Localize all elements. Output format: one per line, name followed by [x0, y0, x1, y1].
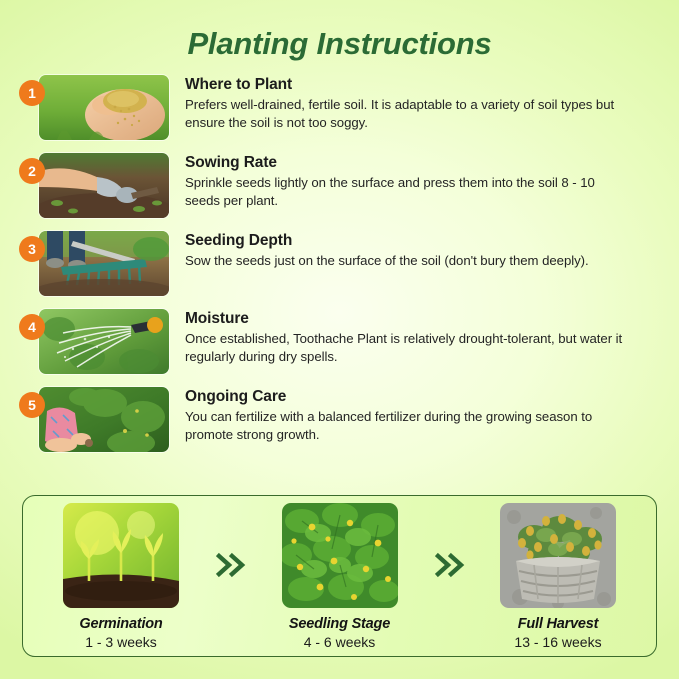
timeline-stage: Full Harvest 13 - 16 weeks [482, 503, 634, 650]
step-heading: Ongoing Care [185, 387, 625, 406]
stage-duration: 4 - 6 weeks [304, 634, 376, 650]
step-heading: Sowing Rate [185, 153, 625, 172]
stage-duration: 13 - 16 weeks [514, 634, 601, 650]
step-number-badge: 3 [19, 236, 45, 262]
hand-holding-seeds-photo [39, 75, 169, 140]
step-text: Moisture Once established, Toothache Pla… [169, 309, 625, 365]
step-body: Once established, Toothache Plant is rel… [185, 330, 625, 365]
step-thumbnail-wrap: 3 [39, 231, 169, 296]
raking-soil-photo [39, 231, 169, 296]
step-heading: Seeding Depth [185, 231, 589, 250]
timeline-stage: Germination 1 - 3 weeks [45, 503, 197, 650]
step-body: You can fertilize with a balanced fertil… [185, 408, 625, 443]
double-chevron-right-icon [207, 548, 253, 582]
step-number-badge: 5 [19, 392, 45, 418]
step-thumbnail-wrap: 4 [39, 309, 169, 374]
step-text: Sowing Rate Sprinkle seeds lightly on th… [169, 153, 625, 209]
step-text: Ongoing Care You can fertilize with a ba… [169, 387, 625, 443]
growth-timeline-panel: Germination 1 - 3 weeks [22, 495, 657, 657]
step-item: 5 [0, 387, 679, 452]
step-item: 3 [0, 231, 679, 296]
harvested-flowers-basket-photo [500, 503, 616, 608]
step-text: Where to Plant Prefers well-drained, fer… [169, 75, 625, 131]
step-heading: Moisture [185, 309, 625, 328]
step-thumbnail-wrap: 5 [39, 387, 169, 452]
step-body: Sprinkle seeds lightly on the surface an… [185, 174, 625, 209]
step-number-badge: 1 [19, 80, 45, 106]
watering-plants-hose-photo [39, 309, 169, 374]
stage-duration: 1 - 3 weeks [85, 634, 157, 650]
step-item: 4 [0, 309, 679, 374]
step-thumbnail-wrap: 2 [39, 153, 169, 218]
gloved-hand-planting-soil-photo [39, 153, 169, 218]
step-body: Sow the seeds just on the surface of the… [185, 252, 589, 269]
step-body: Prefers well-drained, fertile soil. It i… [185, 96, 625, 131]
step-text: Seeding Depth Sow the seeds just on the … [169, 231, 589, 270]
step-heading: Where to Plant [185, 75, 625, 94]
step-item: 1 [0, 75, 679, 140]
stage-name: Seedling Stage [289, 616, 390, 632]
stage-name: Germination [79, 616, 162, 632]
double-chevron-right-icon [426, 548, 472, 582]
step-item: 2 [0, 153, 679, 218]
planting-instructions-infographic: Planting Instructions 1 [0, 0, 679, 679]
leafy-green-plants-photo [282, 503, 398, 608]
page-title: Planting Instructions [0, 0, 679, 61]
step-number-badge: 4 [19, 314, 45, 340]
sprouting-seedlings-photo [63, 503, 179, 608]
person-tending-garden-photo [39, 387, 169, 452]
step-thumbnail-wrap: 1 [39, 75, 169, 140]
timeline-stage: Seedling Stage 4 - 6 weeks [264, 503, 416, 650]
steps-list: 1 [0, 75, 679, 452]
stage-name: Full Harvest [518, 616, 599, 632]
step-number-badge: 2 [19, 158, 45, 184]
